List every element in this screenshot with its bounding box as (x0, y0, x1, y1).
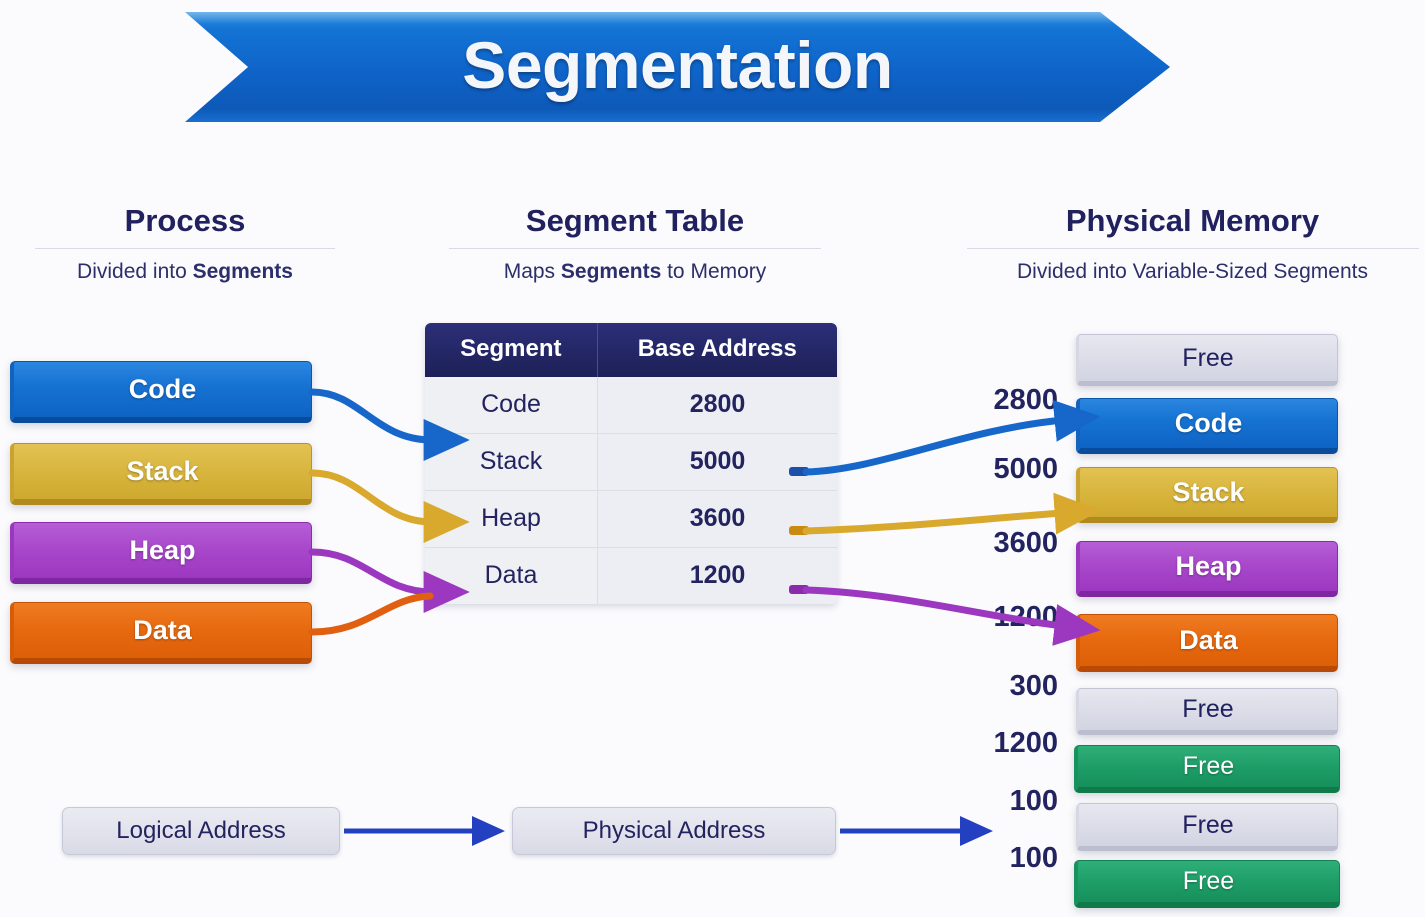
process-subtitle: Divided into Segments (20, 260, 350, 284)
memory-block-label: Free (1183, 752, 1234, 781)
memory-address-label-7: 100 (958, 785, 1058, 818)
process-heading: Process (20, 203, 350, 239)
cell-segment-data: Data (425, 548, 597, 604)
memory-address-label-3: 3600 (958, 527, 1058, 560)
segment-table-heading: Segment Table (435, 203, 835, 239)
arrow-process-code-to-table (312, 392, 432, 440)
physical-address-box: Physical Address (512, 807, 836, 855)
process-block-label: Code (129, 374, 197, 405)
process-block-label: Heap (129, 535, 195, 566)
memory-block-label: Free (1183, 867, 1234, 896)
physical-memory-subtitle-pre: Divided into Variable-Sized Segments (1017, 260, 1368, 283)
table-header-row: Segment Base Address (425, 323, 837, 377)
divider (35, 248, 335, 249)
memory-block-stack-2[interactable]: Stack (1076, 467, 1338, 523)
memory-address-label-1: 2800 (958, 384, 1058, 417)
memory-block-free-0[interactable]: Free (1076, 334, 1338, 386)
physical-memory-column-header: Physical Memory Divided into Variable-Si… (960, 203, 1425, 284)
process-block-label: Stack (126, 456, 198, 487)
memory-block-code-1[interactable]: Code (1076, 398, 1338, 454)
cell-base-address-stack: 5000 (597, 434, 837, 490)
memory-address-label-4: 1200 (958, 601, 1058, 634)
process-subtitle-strong: Segments (193, 260, 293, 283)
physical-memory-subtitle: Divided into Variable-Sized Segments (960, 260, 1425, 284)
physical-memory-heading: Physical Memory (960, 203, 1425, 239)
divider (967, 248, 1419, 249)
title-banner: Segmentation (185, 12, 1170, 122)
memory-block-free-8[interactable]: Free (1074, 860, 1340, 908)
page-title: Segmentation (185, 12, 1170, 122)
segment-table: Segment Base Address Code2800Stack5000He… (425, 323, 837, 604)
memory-address-label-2: 5000 (958, 453, 1058, 486)
memory-block-label: Free (1182, 344, 1233, 373)
diagram-canvas: Segmentation Process Divided into Segmen… (0, 0, 1425, 917)
column-header-base-address: Base Address (597, 323, 837, 377)
process-block-data[interactable]: Data (10, 602, 312, 664)
cell-segment-heap: Heap (425, 491, 597, 547)
table-body: Code2800Stack5000Heap3600Data1200 (425, 377, 837, 604)
memory-block-label: Free (1182, 811, 1233, 840)
memory-address-label-8: 100 (958, 842, 1058, 875)
memory-block-label: Free (1182, 695, 1233, 724)
cell-base-address-code: 2800 (597, 377, 837, 433)
memory-block-free-7[interactable]: Free (1076, 803, 1338, 851)
physical-address-label: Physical Address (583, 817, 766, 845)
cell-base-address-data: 1200 (597, 548, 837, 604)
table-row[interactable]: Data1200 (425, 547, 837, 604)
memory-block-free-5[interactable]: Free (1076, 688, 1338, 735)
memory-block-data-4[interactable]: Data (1076, 614, 1338, 672)
process-column-header: Process Divided into Segments (20, 203, 350, 284)
memory-block-free-6[interactable]: Free (1074, 745, 1340, 793)
arrow-process-data-to-table (312, 596, 430, 632)
memory-block-label: Stack (1172, 477, 1244, 508)
segment-table-subtitle: Maps Segments to Memory (435, 260, 835, 284)
segment-table-subtitle-post: to Memory (661, 260, 766, 283)
memory-address-label-5: 300 (958, 670, 1058, 703)
process-block-heap[interactable]: Heap (10, 522, 312, 584)
memory-block-label: Code (1175, 408, 1243, 439)
process-block-label: Data (133, 615, 192, 646)
process-subtitle-pre: Divided into (77, 260, 193, 283)
arrow-process-heap-to-table (312, 552, 432, 592)
cell-segment-stack: Stack (425, 434, 597, 490)
cell-segment-code: Code (425, 377, 597, 433)
segment-table-column-header: Segment Table Maps Segments to Memory (435, 203, 835, 284)
memory-block-heap-3[interactable]: Heap (1076, 541, 1338, 597)
table-row[interactable]: Heap3600 (425, 490, 837, 547)
memory-block-label: Heap (1175, 551, 1241, 582)
memory-block-label: Data (1179, 625, 1238, 656)
process-block-code[interactable]: Code (10, 361, 312, 423)
logical-address-box: Logical Address (62, 807, 340, 855)
segment-table-subtitle-pre: Maps (504, 260, 561, 283)
arrow-process-stack-to-table (312, 473, 432, 522)
column-header-segment: Segment (425, 323, 597, 377)
process-block-stack[interactable]: Stack (10, 443, 312, 505)
segment-table-subtitle-strong: Segments (561, 260, 661, 283)
table-row[interactable]: Code2800 (425, 377, 837, 433)
divider (449, 248, 821, 249)
logical-address-label: Logical Address (116, 817, 285, 845)
cell-base-address-heap: 3600 (597, 491, 837, 547)
table-row[interactable]: Stack5000 (425, 433, 837, 490)
memory-address-label-6: 1200 (958, 727, 1058, 760)
